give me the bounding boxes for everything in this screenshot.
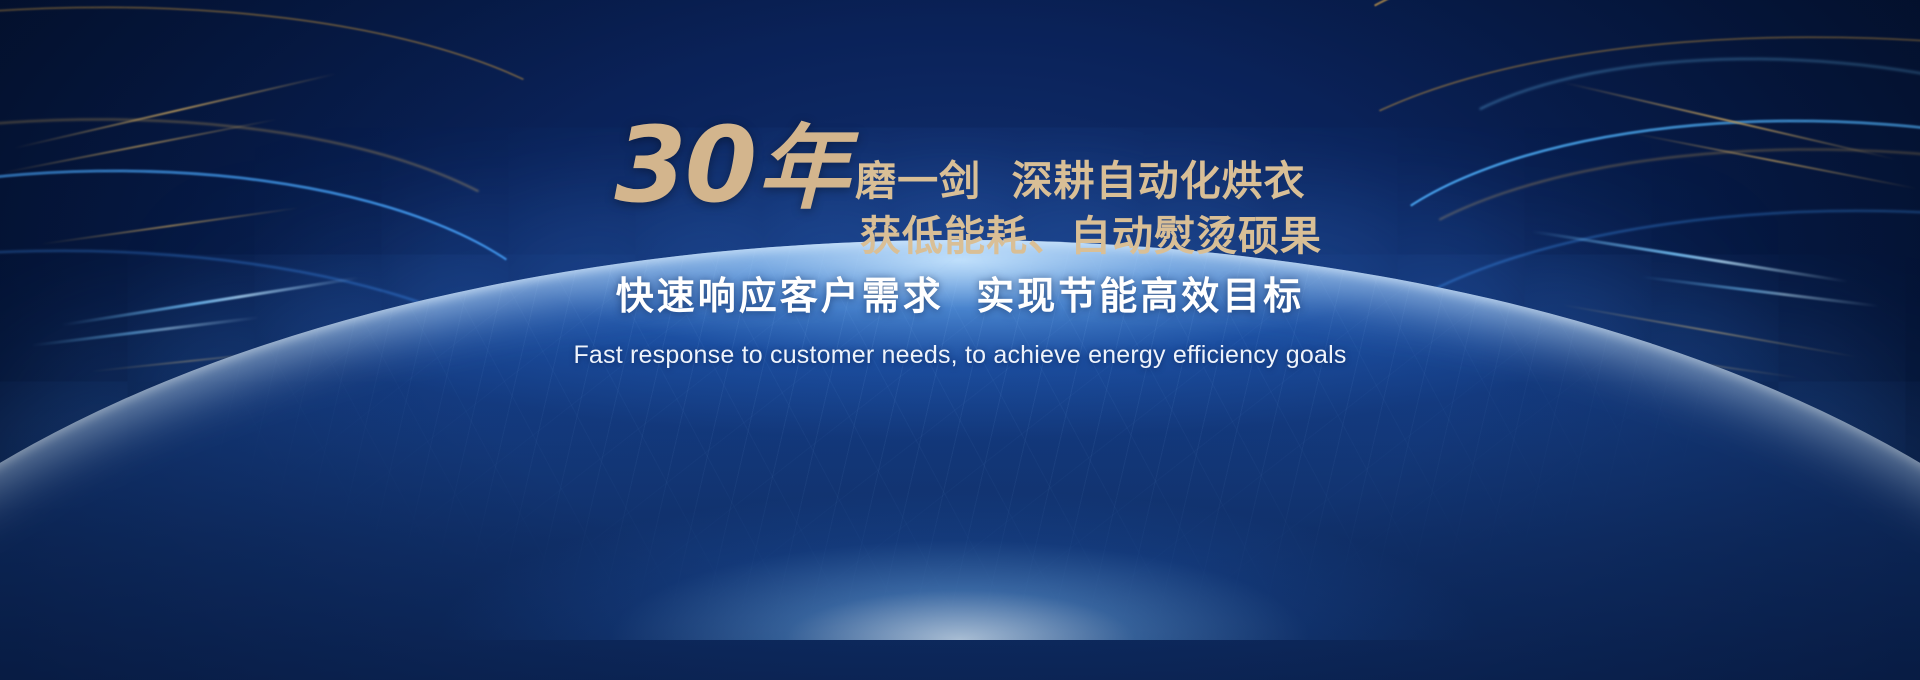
headline-block: 30 年 磨一剑 深耕自动化烘衣 获低能耗、自动熨烫硕果 快速响应客户需求 实现… [0, 118, 1920, 368]
anniversary-number: 30 [614, 118, 755, 214]
headline-gold-line-2: 获低能耗、自动熨烫硕果 [860, 216, 1322, 257]
headline-row-1: 30 年 磨一剑 深耕自动化烘衣 [614, 118, 1305, 214]
headline-white-line: 快速响应客户需求 实现节能高效目标 [616, 277, 1304, 315]
headline-gold-line-1: 磨一剑 深耕自动化烘衣 [855, 161, 1306, 214]
promo-banner: 30 年 磨一剑 深耕自动化烘衣 获低能耗、自动熨烫硕果 快速响应客户需求 实现… [0, 0, 1920, 680]
anniversary-unit: 年 [757, 124, 849, 214]
headline-english-subtitle: Fast response to customer needs, to achi… [573, 343, 1346, 368]
